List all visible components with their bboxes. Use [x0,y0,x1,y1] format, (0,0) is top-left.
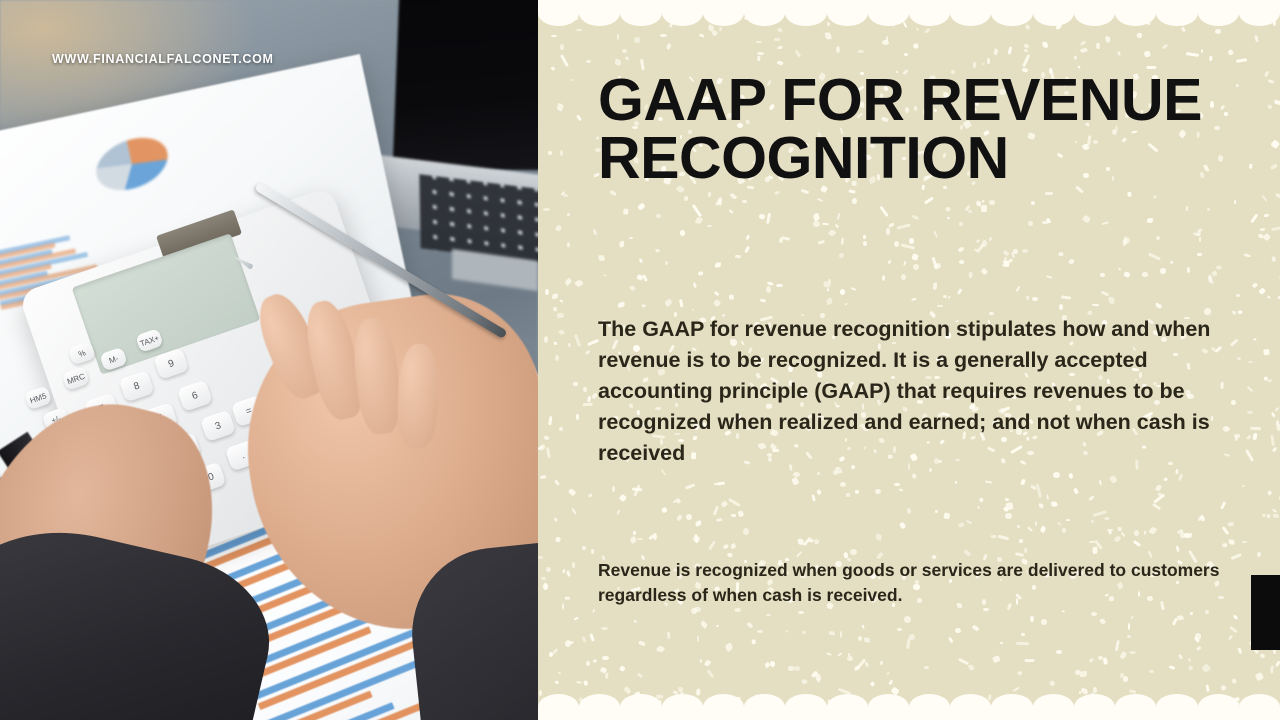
paragraph-sub: Revenue is recognized when goods or serv… [598,558,1238,608]
site-watermark: WWW.FINANCIALFALCONET.COM [52,52,274,66]
panel-content: GAAP FOR REVENUE RECOGNITION The GAAP fo… [598,0,1258,720]
calculator-key-mrc: MRC [62,366,91,391]
calculator-key-tax: TAX+ [135,328,164,353]
poster-canvas: Sales Performance Quarter 2 Quarter 3 Qu… [0,0,1280,720]
hero-photo: Sales Performance Quarter 2 Quarter 3 Qu… [0,0,538,720]
calculator-key-9: 9 [153,347,189,379]
page-title: GAAP FOR REVENUE RECOGNITION [598,72,1258,188]
black-accent-tab [1251,575,1280,650]
calculator-key-hm5: HM5 [24,385,53,410]
calculator-key-m: M- [99,347,128,372]
paragraph-main: The GAAP for revenue recognition stipula… [598,314,1253,469]
laptop-screen [393,0,538,170]
calculator-key-6: 6 [177,379,213,411]
calculator-key-8: 8 [119,370,155,402]
content-panel: GAAP FOR REVENUE RECOGNITION The GAAP fo… [538,0,1280,720]
calculator-key-3: 3 [200,410,236,442]
finger-pinky [396,343,440,448]
